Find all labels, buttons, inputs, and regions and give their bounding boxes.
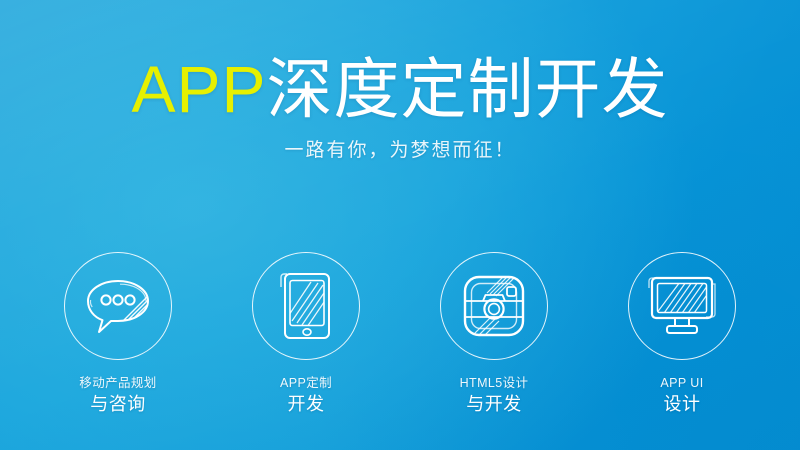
feature-labels: HTML5设计 与开发 — [460, 375, 529, 416]
speech-bubble-icon — [83, 275, 153, 337]
title-main-text: 深度定制开发 — [267, 52, 669, 126]
feature-item-ui-design[interactable]: APP UI 设计 — [596, 252, 768, 416]
promo-banner: APP深度定制开发 一路有你，为梦想而征！ — [0, 0, 800, 450]
feature-labels: 移动产品规划 与咨询 — [79, 375, 156, 416]
feature-item-consulting[interactable]: 移动产品规划 与咨询 — [32, 252, 204, 416]
tablet-icon — [278, 271, 334, 341]
feature-labels: APP UI 设计 — [660, 375, 703, 416]
feature-label-bottom: 设计 — [660, 392, 703, 416]
page-title: APP深度定制开发 — [0, 52, 800, 126]
feature-list: 移动产品规划 与咨询 — [0, 252, 800, 416]
icon-circle — [64, 252, 172, 360]
title-accent-text: APP — [131, 52, 266, 126]
title-block: APP深度定制开发 一路有你，为梦想而征！ — [0, 52, 800, 164]
icon-circle — [252, 252, 360, 360]
feature-label-top: 移动产品规划 — [79, 375, 156, 392]
feature-label-bottom: 与开发 — [460, 392, 529, 416]
icon-circle — [628, 252, 736, 360]
feature-label-top: APP UI — [660, 375, 703, 392]
feature-label-top: HTML5设计 — [460, 375, 529, 392]
feature-label-bottom: 开发 — [280, 392, 332, 416]
camera-icon — [461, 273, 527, 339]
monitor-icon — [646, 274, 718, 338]
feature-item-app-development[interactable]: APP定制 开发 — [220, 252, 392, 416]
feature-labels: APP定制 开发 — [280, 375, 332, 416]
icon-circle — [440, 252, 548, 360]
feature-label-bottom: 与咨询 — [79, 392, 156, 416]
feature-item-html5-design[interactable]: HTML5设计 与开发 — [408, 252, 580, 416]
feature-label-top: APP定制 — [280, 375, 332, 392]
page-subtitle: 一路有你，为梦想而征！ — [0, 138, 800, 164]
